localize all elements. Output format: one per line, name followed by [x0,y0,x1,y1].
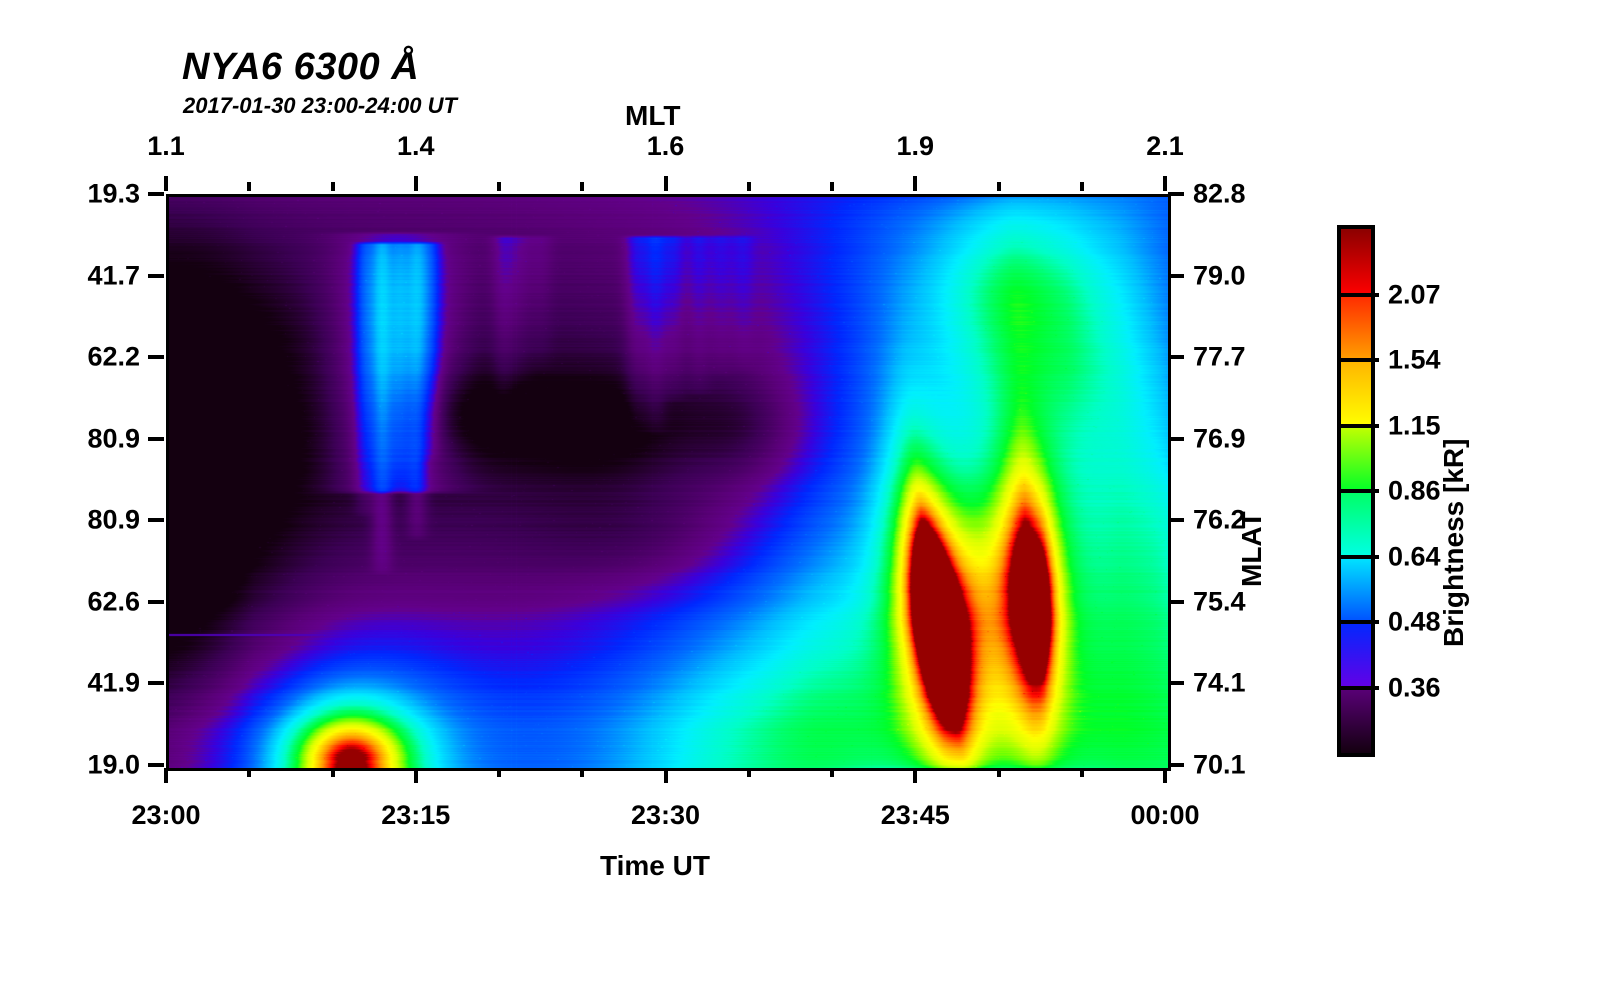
colorbar-separator-5 [1341,620,1379,624]
x2-major-tick [414,176,418,191]
x-tick-label-4: 00:00 [1130,800,1199,831]
y-tick-label-2: 62.2 [0,342,140,373]
x-minor-tick [830,768,834,777]
colorbar-tick-label-3: 0.86 [1388,476,1441,507]
y-tick-label-6: 41.9 [0,668,140,699]
y-major-tick [148,681,164,685]
x2-major-tick [664,176,668,191]
y-major-tick [148,763,164,767]
keogram-figure: NYA6 6300 Å 2017-01-30 23:00-24:00 UT ML… [0,0,1600,1000]
y-major-tick [148,518,164,522]
y-tick-label-4: 80.9 [0,505,140,536]
y-tick-label-7: 19.0 [0,750,140,781]
y2-major-tick [1168,600,1184,604]
x2-minor-tick [331,182,335,191]
x2-minor-tick [1080,182,1084,191]
x2-tick-label-1: 1.4 [397,131,435,162]
y2-tick-label-6: 74.1 [1193,668,1246,699]
x-major-tick [164,768,168,783]
y2-major-tick [1168,518,1184,522]
y2-tick-label-0: 82.8 [1193,179,1246,210]
x-minor-tick [331,768,335,777]
x-major-tick [414,768,418,783]
x-minor-tick [997,768,1001,777]
x-minor-tick [247,768,251,777]
keogram-plot-area [166,194,1171,771]
colorbar-separator-3 [1341,489,1379,493]
x-major-tick [664,768,668,783]
x2-minor-tick [247,182,251,191]
colorbar-separator-6 [1341,686,1379,690]
x-minor-tick [580,768,584,777]
x2-tick-label-3: 1.9 [896,131,934,162]
x-major-tick [1163,768,1167,783]
x-tick-label-3: 23:45 [881,800,950,831]
colorbar-separator-4 [1341,555,1379,559]
x2-tick-label-2: 1.6 [647,131,685,162]
colorbar-tick-label-1: 1.54 [1388,345,1441,376]
colorbar-tick-label-2: 1.15 [1388,410,1441,441]
colorbar-tick-label-0: 2.07 [1388,279,1441,310]
y2-tick-label-1: 79.0 [1193,260,1246,291]
x-tick-label-2: 23:30 [631,800,700,831]
y2-tick-label-7: 70.1 [1193,750,1246,781]
colorbar-tick-label-4: 0.64 [1388,541,1441,572]
colorbar-tick-label-6: 0.36 [1388,672,1441,703]
y-major-tick [148,274,164,278]
y2-major-tick [1168,437,1184,441]
colorbar-band-0 [1341,229,1371,295]
y2-tick-label-5: 75.4 [1193,586,1246,617]
y2-major-tick [1168,681,1184,685]
colorbar-tick-label-5: 0.48 [1388,607,1441,638]
colorbar-band-5 [1341,557,1371,623]
x2-major-tick [164,176,168,191]
x2-minor-tick [997,182,1001,191]
x2-tick-label-0: 1.1 [147,131,185,162]
colorbar-title: Brightness [kR] [1438,439,1470,647]
x2-minor-tick [830,182,834,191]
y2-tick-label-2: 77.7 [1193,342,1246,373]
x2-tick-label-4: 2.1 [1146,131,1184,162]
x-major-tick [913,768,917,783]
top-axis-title: MLT [625,100,680,132]
x2-major-tick [913,176,917,191]
y2-tick-label-4: 76.2 [1193,505,1246,536]
x2-minor-tick [580,182,584,191]
x-tick-label-0: 23:00 [131,800,200,831]
y2-major-tick [1168,763,1184,767]
colorbar-separator-2 [1341,424,1379,428]
colorbar-band-3 [1341,426,1371,492]
y-major-tick [148,600,164,604]
colorbar-band-7 [1341,688,1371,754]
colorbar-band-4 [1341,491,1371,557]
colorbar-separator-1 [1341,358,1379,362]
bottom-axis-title: Time UT [600,850,710,882]
y-tick-label-0: 19.3 [0,179,140,210]
x2-minor-tick [497,182,501,191]
colorbar-band-2 [1341,360,1371,426]
colorbar-band-1 [1341,295,1371,361]
colorbar [1337,225,1375,757]
x-minor-tick [1080,768,1084,777]
y2-major-tick [1168,355,1184,359]
y-tick-label-5: 62.6 [0,586,140,617]
x2-major-tick [1163,176,1167,191]
colorbar-separator-0 [1341,293,1379,297]
x-minor-tick [497,768,501,777]
y-major-tick [148,192,164,196]
y-tick-label-3: 80.9 [0,423,140,454]
y-tick-label-1: 41.7 [0,260,140,291]
x2-minor-tick [747,182,751,191]
y2-major-tick [1168,274,1184,278]
y2-tick-label-3: 76.9 [1193,423,1246,454]
page-title: NYA6 6300 Å [182,46,419,89]
y-major-tick [148,437,164,441]
y-major-tick [148,355,164,359]
keogram-image [169,197,1168,768]
x-minor-tick [747,768,751,777]
colorbar-band-6 [1341,622,1371,688]
x-tick-label-1: 23:15 [381,800,450,831]
y2-major-tick [1168,192,1184,196]
page-subtitle: 2017-01-30 23:00-24:00 UT [183,93,457,119]
